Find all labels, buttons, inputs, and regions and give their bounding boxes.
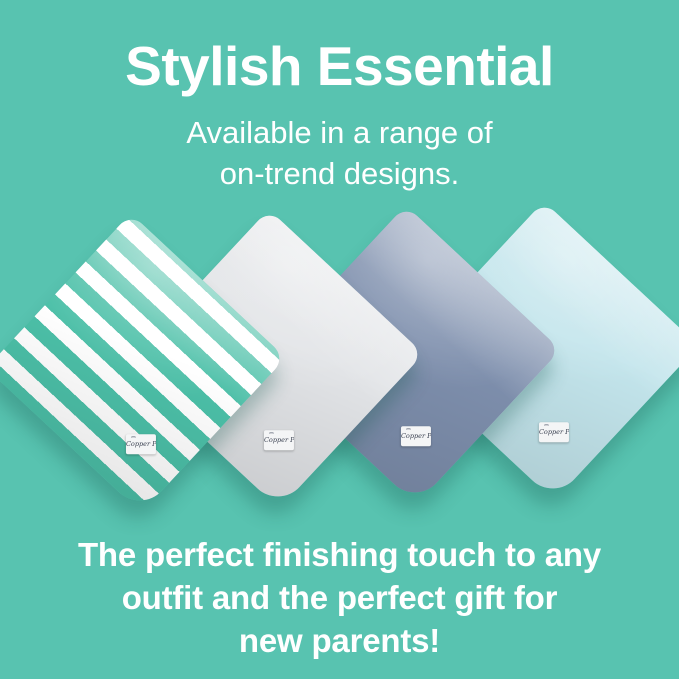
brand-tag-text-4: Copper Pearl: [539, 429, 569, 436]
footer-line-3: new parents!: [0, 620, 679, 663]
footer-message: The perfect finishing touch to any outfi…: [0, 534, 679, 663]
footer-line-2: outfit and the perfect gift for: [0, 577, 679, 620]
brand-tag-text-2: Copper Pearl: [264, 437, 294, 444]
brand-tag-1: Copper Pearl: [126, 434, 156, 454]
brand-tag-4: Copper Pearl: [539, 422, 569, 442]
brand-tag-text-1: Copper Pearl: [126, 441, 156, 448]
promo-image: Stylish Essential Available in a range o…: [0, 0, 679, 679]
footer-line-1: The perfect finishing touch to any: [0, 534, 679, 577]
brand-tag-text-3: Copper Pearl: [401, 433, 431, 440]
brand-tag-3: Copper Pearl: [401, 426, 431, 446]
brand-tag-2: Copper Pearl: [264, 430, 294, 450]
